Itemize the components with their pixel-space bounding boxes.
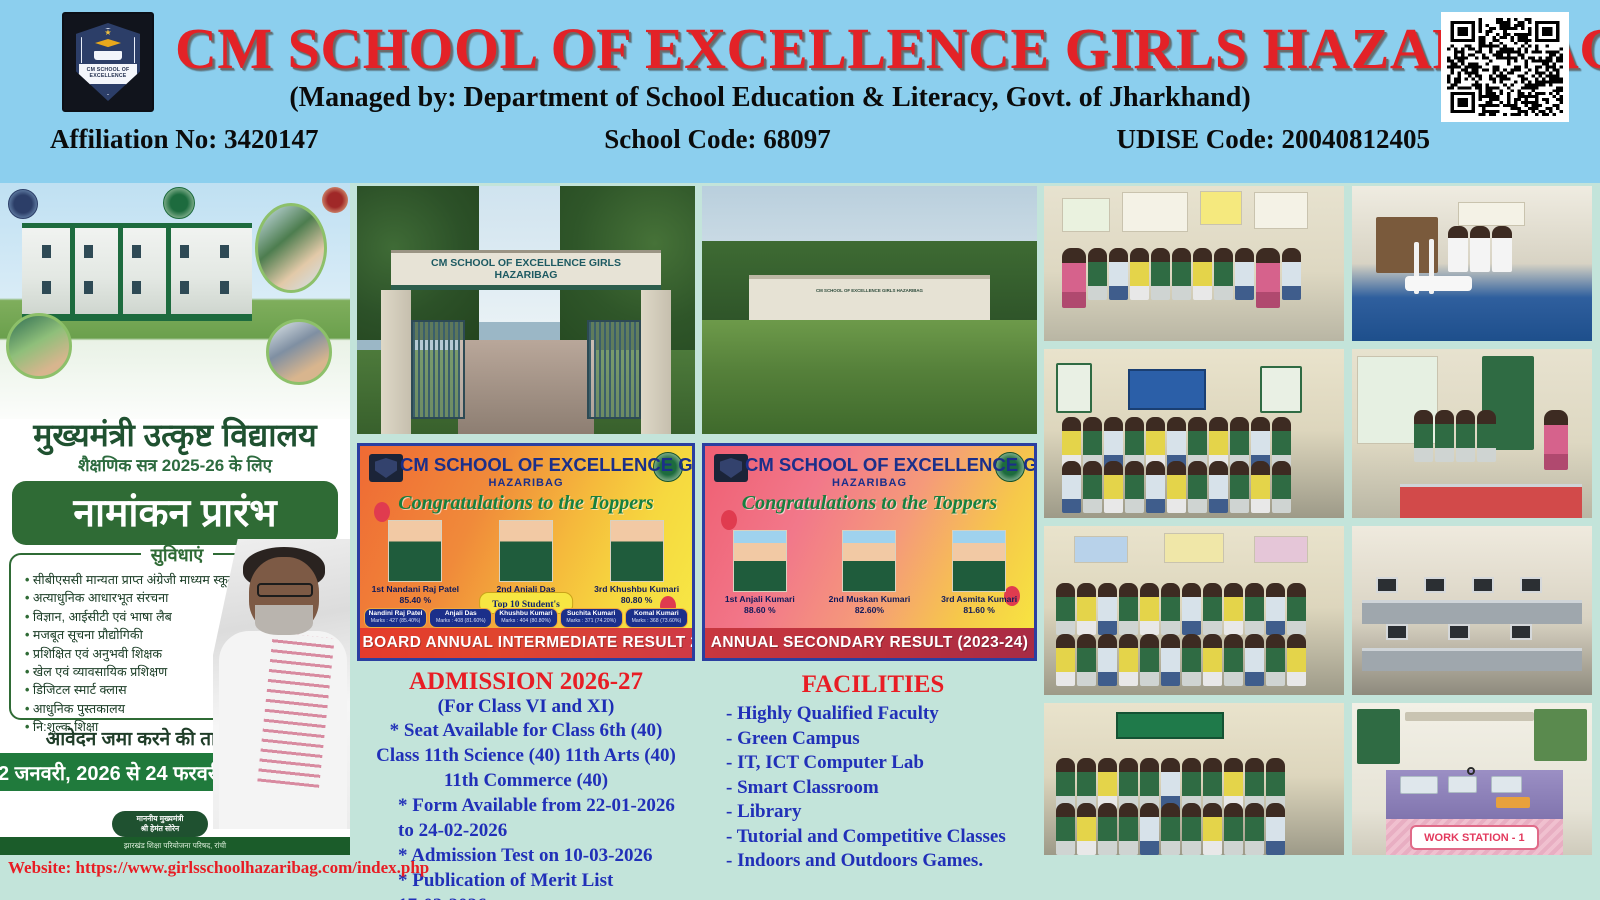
top10-student-name: Suchita Kumari <box>562 610 621 618</box>
poster-heading-sub: शैक्षणिक सत्र 2025-26 के लिए <box>0 457 350 474</box>
classroom-activity-photo <box>1352 349 1592 518</box>
gate-caption-line2: HAZARIBAG <box>402 269 651 281</box>
top10-student-marks: Marks : 368 (73.60%) <box>627 618 686 625</box>
admission-title: ADMISSION 2026-27 <box>352 668 700 696</box>
topper-percent: 85.40 % <box>366 595 466 606</box>
gate-caption-line1: CM SCHOOL OF EXCELLENCE GIRLS <box>402 257 651 269</box>
balloon-decoration-icon <box>374 502 390 522</box>
admission-line: 17-03-2026 <box>352 893 700 900</box>
poster-logo-right-icon <box>322 187 348 213</box>
codes-row: Affiliation No: 3420147 School Code: 680… <box>50 124 1430 155</box>
annual-function-photo <box>1044 703 1344 855</box>
campus-building: CM SCHOOL OF EXCELLENCE GIRLS HAZARIBAG <box>749 275 990 320</box>
topper-name: 3rd Asmita Kumari <box>930 594 1029 605</box>
poster-building-image <box>22 223 252 321</box>
topper-photo <box>499 520 553 582</box>
poster-logo-center-icon <box>163 187 195 219</box>
jac-result-banner: CM SCHOOL OF EXCELLENCE GIRLS HAZARIBAG … <box>357 443 695 661</box>
topper-name: 1st Anjali Kumari <box>710 594 809 605</box>
page-header: ★ CM SCHOOL OF EXCELLENCE CM SCHOOL OF E… <box>0 0 1600 183</box>
poster-student-reading-photo <box>255 203 327 293</box>
sec-banner-title: CM SCHOOL OF EXCELLENCE GIRLS <box>745 456 994 475</box>
udise-code: UDISE Code: 20040812405 <box>1116 124 1430 155</box>
poster-heading-main: मुख्यमंत्री उत्कृष्ट विद्यालय <box>0 419 350 451</box>
top10-student-name: Nandini Raj Patel <box>366 610 425 618</box>
facilities-block: FACILITIES - Highly Qualified Faculty- G… <box>708 668 1038 874</box>
admission-subtitle: (For Class VI and XI) <box>352 696 700 718</box>
event-banner <box>1128 369 1206 410</box>
facility-item: - Smart Classroom <box>708 776 1038 801</box>
top10-student-card: Suchita KumariMarks : 371 (74.20%) <box>560 608 623 628</box>
top10-student-card: Anjali DasMarks : 408 (81.60%) <box>429 608 492 628</box>
top10-student-marks: Marks : 371 (74.20%) <box>562 618 621 625</box>
assembly-group-photo <box>1044 526 1344 695</box>
workstation-photo: WORK STATION - 1 <box>1352 703 1592 855</box>
jac-banner-subtitle: HAZARIBAG <box>400 477 652 489</box>
admission-line: * Seat Available for Class 6th (40) <box>352 718 700 743</box>
campus-building-label: CM SCHOOL OF EXCELLENCE GIRLS HAZARIBAG <box>759 288 981 293</box>
admission-line: Class 11th Science (40) 11th Arts (40) <box>352 743 700 768</box>
top10-student-card: Nandini Raj PatelMarks : 427 (85.40%) <box>364 608 427 628</box>
gate-signboard: CM SCHOOL OF EXCELLENCE GIRLS HAZARIBAG <box>391 250 661 290</box>
poster-student-praying-photo <box>6 313 72 379</box>
jac-banner-congrats: Congratulations to the Toppers <box>390 492 662 515</box>
secondary-result-banner: CM SCHOOL OF EXCELLENCE GIRLS HAZARIBAG … <box>702 443 1037 661</box>
facility-item: - Green Campus <box>708 727 1038 752</box>
prize-distribution-photo <box>1044 186 1344 341</box>
admission-line: 11th Commerce (40) <box>352 768 700 793</box>
poster-enrollment-banner: नामांकन प्रारंभ <box>12 481 338 545</box>
school-campus-photo: CM SCHOOL OF EXCELLENCE GIRLS HAZARIBAG <box>702 186 1037 434</box>
poster-hero-photo <box>0 183 350 433</box>
top10-student-marks: Marks : 427 (85.40%) <box>366 618 425 625</box>
qr-code <box>1441 12 1569 122</box>
topper-photo <box>952 530 1006 592</box>
topper-percent: 82.60% <box>820 605 919 616</box>
chief-minister-nameplate: माननीय मुख्यमंत्री श्री हेमंत सोरेन <box>112 811 208 837</box>
topper-name: 2nd Muskan Kumari <box>820 594 919 605</box>
topper-name: 1st Nandani Raj Patel <box>366 584 466 595</box>
balloon-decoration-icon <box>721 510 737 530</box>
facility-item: - IT, ICT Computer Lab <box>708 751 1038 776</box>
admission-poster: मुख्यमंत्री उत्कृष्ट विद्यालय शैक्षणिक स… <box>0 183 350 855</box>
topper-photo <box>610 520 664 582</box>
school-logo: ★ CM SCHOOL OF EXCELLENCE <box>62 12 154 112</box>
poster-features-title: सुविधाएं <box>141 545 214 565</box>
sec-toppers-row: 1st Anjali Kumari88.60 %2nd Muskan Kumar… <box>705 530 1034 616</box>
topper-card: 1st Nandani Raj Patel85.40 % <box>366 520 466 606</box>
topper-percent: 88.60 % <box>710 605 809 616</box>
sec-footer-text: ANNUAL SECONDARY RESULT (2023-24) <box>711 634 1029 652</box>
topper-percent: 81.60 % <box>930 605 1029 616</box>
topper-card: 3rd Khushbu Kumari80.80 % <box>587 520 687 606</box>
jac-banner-title: CM SCHOOL OF EXCELLENCE GIRLS <box>400 456 652 475</box>
topper-photo <box>733 530 787 592</box>
cm-name: श्री हेमंत सोरेन <box>112 824 208 834</box>
top10-student-card: Khushbu KumariMarks : 404 (80.80%) <box>494 608 557 628</box>
sec-banner-footer: ANNUAL SECONDARY RESULT (2023-24) <box>705 628 1034 658</box>
school-code: School Code: 68097 <box>604 124 831 155</box>
facility-item: - Library <box>708 800 1038 825</box>
managed-by-line: (Managed by: Department of School Educat… <box>175 82 1365 114</box>
top10-student-name: Komal Kumari <box>627 610 686 618</box>
qr-code-canvas <box>1447 18 1563 116</box>
sports-science-day-photo <box>1044 349 1344 518</box>
sec-banner-congrats: Congratulations to the Toppers <box>735 492 1004 515</box>
poster-logo-left-icon <box>8 189 38 219</box>
stage-banner <box>1116 712 1224 739</box>
facilities-items: - Highly Qualified Faculty- Green Campus… <box>708 702 1038 874</box>
facility-item: - Tutorial and Competitive Classes <box>708 825 1038 850</box>
shield-icon: ★ CM SCHOOL OF EXCELLENCE <box>76 23 140 101</box>
facility-item: - Highly Qualified Faculty <box>708 702 1038 727</box>
jac-banner-footer: JAC BOARD ANNUAL INTERMEDIATE RESULT 202… <box>360 628 692 658</box>
sec-banner-subtitle: HAZARIBAG <box>745 477 994 489</box>
top10-student-marks: Marks : 404 (80.80%) <box>496 618 555 625</box>
banner-school-logo-icon <box>714 454 748 482</box>
workstation-label-text: WORK STATION - 1 <box>1424 832 1524 844</box>
topper-percent: 80.80 % <box>587 595 687 606</box>
top10-student-card: Komal KumariMarks : 368 (73.60%) <box>625 608 688 628</box>
topper-card: 3rd Asmita Kumari81.60 % <box>930 530 1029 616</box>
website-link[interactable]: Website: https://www.girlsschoolhazariba… <box>8 858 428 878</box>
topper-card: 2nd Muskan Kumari82.60% <box>820 530 919 616</box>
school-gate-photo: CM SCHOOL OF EXCELLENCE GIRLS HAZARIBAG <box>357 186 695 434</box>
poster-page: ★ CM SCHOOL OF EXCELLENCE CM SCHOOL OF E… <box>0 0 1600 900</box>
topper-card: 1st Anjali Kumari88.60 % <box>710 530 809 616</box>
science-lab-photo <box>1352 186 1592 341</box>
admission-line: * Form Available from 22-01-2026 <box>352 793 700 818</box>
affiliation-number: Affiliation No: 3420147 <box>50 124 318 155</box>
workstation-label: WORK STATION - 1 <box>1410 825 1540 851</box>
facility-item: - Indoors and Outdoors Games. <box>708 849 1038 874</box>
cm-title: माननीय मुख्यमंत्री <box>112 814 208 824</box>
top10-student-name: Khushbu Kumari <box>496 610 555 618</box>
banner-school-logo-icon <box>369 454 403 482</box>
computer-lab-photo <box>1352 526 1592 695</box>
topper-photo <box>842 530 896 592</box>
page-title: CM SCHOOL OF EXCELLENCE GIRLS HAZARIBAG <box>175 20 1365 78</box>
topper-photo <box>388 520 442 582</box>
poster-footer-text: झारखंड शिक्षा परियोजना परिषद, रांची <box>124 841 226 851</box>
top10-student-name: Anjali Das <box>431 610 490 618</box>
facilities-title: FACILITIES <box>708 668 1038 702</box>
top10-student-marks: Marks : 408 (81.60%) <box>431 618 490 625</box>
chief-minister-photo <box>213 539 350 829</box>
poster-banner-text: नामांकन प्रारंभ <box>73 494 276 533</box>
admission-line: to 24-02-2026 <box>352 818 700 843</box>
poster-footer: झारखंड शिक्षा परियोजना परिषद, रांची <box>0 837 350 855</box>
jac-footer-text: JAC BOARD ANNUAL INTERMEDIATE RESULT 202… <box>357 634 695 652</box>
poster-student-microscope-photo <box>266 319 332 385</box>
logo-text-line2: EXCELLENCE <box>90 74 127 80</box>
topper-name: 3rd Khushbu Kumari <box>587 584 687 595</box>
poster-body: मुख्यमंत्री उत्कृष्ट विद्यालय शैक्षणिक स… <box>0 419 350 855</box>
